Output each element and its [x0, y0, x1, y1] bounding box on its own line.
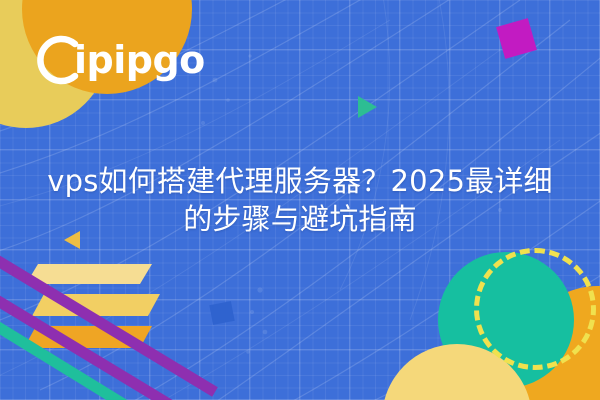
decorative-triangle-teal — [358, 96, 377, 118]
page-title: vps如何搭建代理服务器？2025最详细的步骤与避坑指南 — [0, 162, 600, 239]
decorative-dashed-circle — [474, 248, 596, 370]
article-cover-banner: ipipgo vps如何搭建代理服务器？2025最详细的步骤与避坑指南 — [0, 0, 600, 400]
brand-logo-text: ipipgo — [74, 41, 205, 79]
brand-logo: ipipgo — [28, 26, 205, 94]
decorative-bars-and-stripes — [0, 240, 330, 400]
